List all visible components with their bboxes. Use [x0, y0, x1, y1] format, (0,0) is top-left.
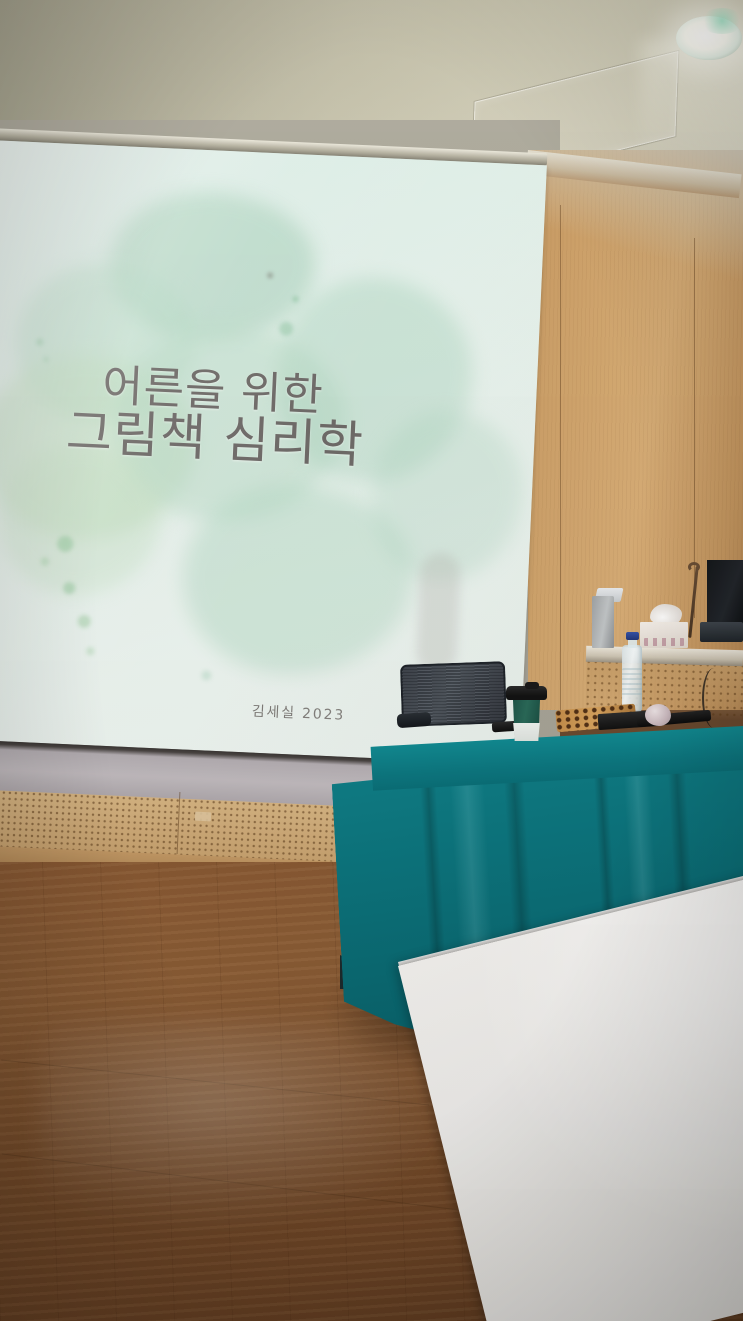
wood-panel-seam — [694, 238, 695, 618]
coffee-cup-white-band — [512, 723, 541, 741]
dispenser-icon — [592, 596, 614, 648]
coffee-cup-lid-tab — [525, 682, 539, 689]
tissue-box-pattern — [644, 638, 684, 646]
slide-credit: 김세실 2023 — [251, 701, 345, 725]
slide-title: 어른을 위한 그림책 심리학 — [65, 362, 469, 476]
office-chair-armrest — [397, 712, 432, 728]
screen-glare-pill — [416, 552, 461, 674]
speckle-11 — [201, 670, 211, 680]
water-bottle-ribs — [622, 668, 642, 698]
monitor-base — [700, 622, 743, 642]
monitor-icon — [707, 560, 743, 626]
downlight-green-tint — [700, 8, 743, 34]
speckle-7 — [86, 647, 94, 655]
lecture-room-scene: 어른을 위한 그림책 심리학 김세실 2023 — [0, 0, 743, 1321]
water-bottle-cap — [626, 632, 639, 640]
speckle-6 — [77, 615, 91, 629]
acoustic-panel-plate — [195, 812, 211, 822]
fuzzy-ball-icon — [645, 704, 671, 726]
wood-panel-seam — [560, 205, 561, 710]
